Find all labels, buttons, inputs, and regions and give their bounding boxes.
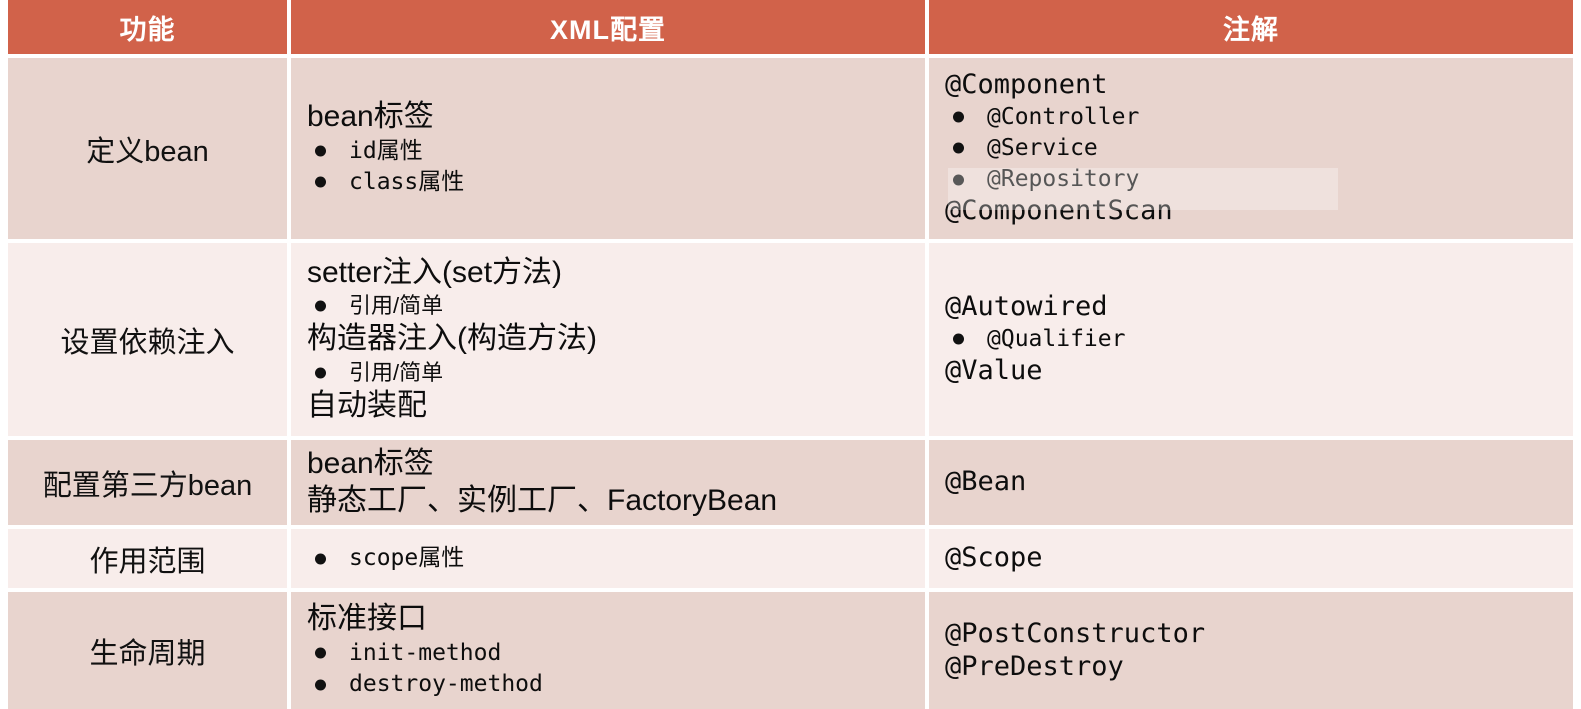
list-item: id属性 — [307, 136, 925, 167]
xml-bullet-list: init-method destroy-method — [307, 638, 925, 701]
column-header-annotation: 注解 — [929, 0, 1573, 58]
function-cell: 配置第三方bean — [8, 440, 291, 529]
spring-config-comparison-table: 功能 XML配置 注解 定义bean bean标签 id属性 class属性 @… — [8, 0, 1573, 709]
annotation-main-line: @Autowired — [945, 291, 1573, 324]
xml-main-line: bean标签 — [307, 99, 925, 136]
annotation-main-line: @Scope — [945, 542, 1573, 575]
xml-bullet-list: id属性 class属性 — [307, 136, 925, 199]
list-item: 引用/简单 — [307, 358, 925, 388]
xml-config-cell: scope属性 — [291, 529, 929, 592]
comparison-table-container: 功能 XML配置 注解 定义bean bean标签 id属性 class属性 @… — [8, 0, 1573, 700]
table-row: 设置依赖注入 setter注入(set方法) 引用/简单 构造器注入(构造方法)… — [8, 243, 1573, 440]
list-item: @Controller — [945, 102, 1573, 133]
annotation-cell: @Autowired @Qualifier @Value — [929, 243, 1573, 440]
xml-config-cell: bean标签 静态工厂、实例工厂、FactoryBean — [291, 440, 929, 529]
xml-main-line: 标准接口 — [307, 601, 925, 638]
list-item: class属性 — [307, 167, 925, 198]
table-row: 配置第三方bean bean标签 静态工厂、实例工厂、FactoryBean @… — [8, 440, 1573, 529]
xml-main-line: setter注入(set方法) — [307, 255, 925, 292]
list-item: @Service — [945, 133, 1573, 164]
annotation-cell: @PostConstructor @PreDestroy — [929, 592, 1573, 709]
column-header-xml-config: XML配置 — [291, 0, 929, 58]
list-item: 引用/简单 — [307, 291, 925, 321]
list-item: init-method — [307, 638, 925, 669]
annotation-bullet-list: @Qualifier — [945, 324, 1573, 355]
table-row: 生命周期 标准接口 init-method destroy-method @Po… — [8, 592, 1573, 709]
table-header-row: 功能 XML配置 注解 — [8, 0, 1573, 58]
function-cell: 设置依赖注入 — [8, 243, 291, 440]
list-item: scope属性 — [307, 543, 925, 574]
annotation-cell: @Scope — [929, 529, 1573, 592]
xml-main-line: bean标签 — [307, 446, 925, 483]
annotation-bullet-list: @Controller @Service @Repository — [945, 102, 1573, 196]
annotation-main-line-secondary: @Value — [945, 355, 1573, 388]
function-cell: 作用范围 — [8, 529, 291, 592]
list-item: destroy-method — [307, 669, 925, 700]
xml-config-cell: setter注入(set方法) 引用/简单 构造器注入(构造方法) 引用/简单 … — [291, 243, 929, 440]
annotation-main-line: @Bean — [945, 466, 1573, 499]
column-header-function: 功能 — [8, 0, 291, 58]
function-cell: 定义bean — [8, 58, 291, 243]
xml-config-cell: 标准接口 init-method destroy-method — [291, 592, 929, 709]
annotation-main-line: @Component — [945, 69, 1573, 102]
function-cell: 生命周期 — [8, 592, 291, 709]
list-item: @Repository — [945, 164, 1573, 195]
annotation-cell: @Component @Controller @Service @Reposit… — [929, 58, 1573, 243]
annotation-cell: @Bean — [929, 440, 1573, 529]
xml-bullet-list: scope属性 — [307, 543, 925, 574]
table-row: 定义bean bean标签 id属性 class属性 @Component @C… — [8, 58, 1573, 243]
xml-main-line: 自动装配 — [307, 388, 925, 425]
table-row: 作用范围 scope属性 @Scope — [8, 529, 1573, 592]
annotation-main-line-secondary: @ComponentScan — [945, 195, 1573, 228]
xml-main-line: 静态工厂、实例工厂、FactoryBean — [307, 483, 925, 520]
annotation-main-line-secondary: @PreDestroy — [945, 651, 1573, 684]
xml-bullet-list: 引用/简单 — [307, 291, 925, 321]
xml-bullet-list: 引用/简单 — [307, 358, 925, 388]
list-item: @Qualifier — [945, 324, 1573, 355]
xml-main-line: 构造器注入(构造方法) — [307, 321, 925, 358]
xml-config-cell: bean标签 id属性 class属性 — [291, 58, 929, 243]
annotation-main-line: @PostConstructor — [945, 618, 1573, 651]
